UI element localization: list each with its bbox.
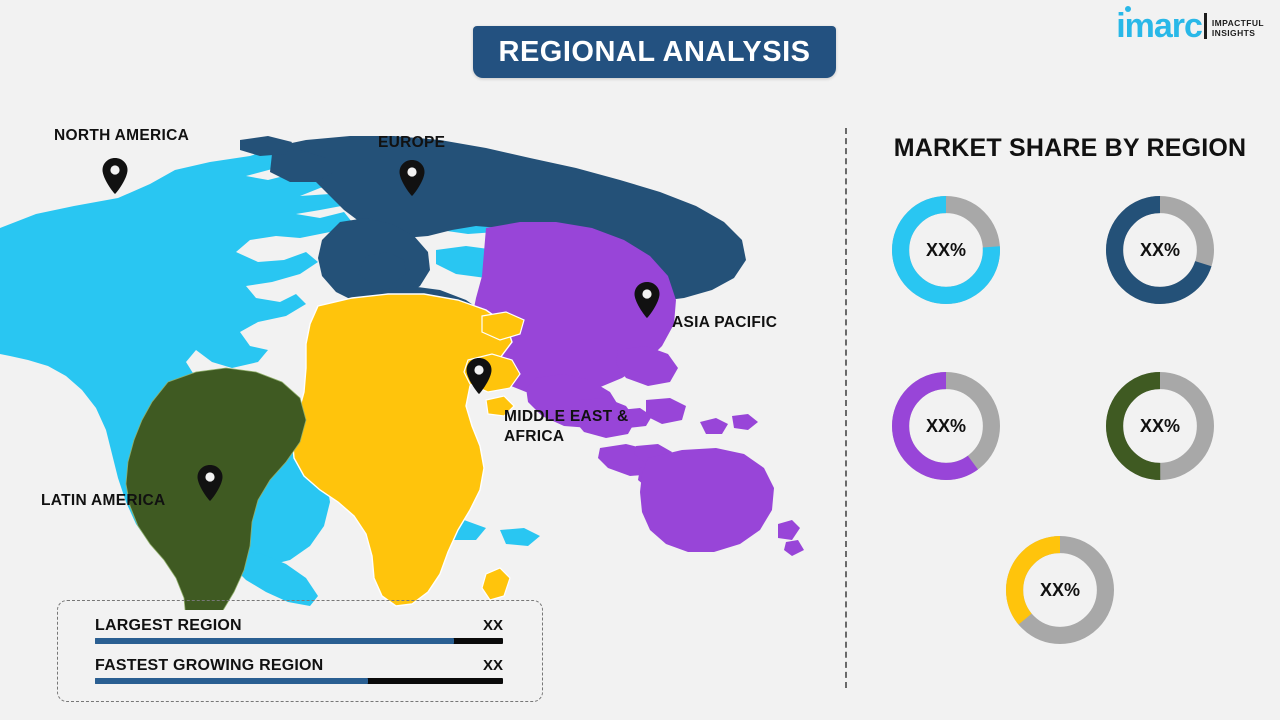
legend-row-fastest-growing-region: FASTEST GROWING REGION XX (95, 657, 503, 684)
market-share-panel-title: MARKET SHARE BY REGION (890, 134, 1250, 163)
region-label-asia-pacific: ASIA PACIFIC (672, 313, 777, 333)
map-pin-asia-pacific-icon[interactable] (634, 282, 660, 318)
region-label-latin-america: LATIN AMERICA (41, 491, 165, 511)
legend-bar-fill-largest-region (95, 638, 454, 644)
logo-tagline-line2: INSIGHTS (1212, 28, 1264, 38)
map-region-asia-pacific (472, 222, 804, 556)
region-label-europe: EUROPE (378, 133, 445, 153)
donut-value-europe: XX% (1100, 190, 1220, 310)
donut-chart-asia-pacific: XX% (886, 366, 1006, 486)
donut-chart-europe: XX% (1100, 190, 1220, 310)
map-region-middle-east-africa (292, 294, 524, 606)
page-title-banner: REGIONAL ANALYSIS (473, 26, 836, 78)
legend-row-largest-region: LARGEST REGION XX (95, 617, 503, 644)
donut-value-asia-pacific: XX% (886, 366, 1006, 486)
legend-value-fastest-growing-region: XX (483, 657, 503, 674)
donut-chart-latin-america: XX% (1100, 366, 1220, 486)
donut-chart-middle-east-africa: XX% (1000, 530, 1120, 650)
donut-value-north-america: XX% (886, 190, 1006, 310)
logo-tagline: IMPACTFUL INSIGHTS (1212, 18, 1264, 38)
logo-word-text: imarc (1116, 7, 1202, 45)
page-title: REGIONAL ANALYSIS (499, 36, 811, 69)
region-label-middle-east-africa: MIDDLE EAST & AFRICA (504, 407, 628, 447)
logo-tagline-line1: IMPACTFUL (1212, 18, 1264, 28)
legend-bar-fill-fastest-growing-region (95, 678, 368, 684)
logo-divider-bar (1204, 13, 1207, 39)
region-summary-box: LARGEST REGION XX FASTEST GROWING REGION… (57, 600, 543, 702)
imarc-logo: imarc IMPACTFUL INSIGHTS (1116, 10, 1264, 42)
map-pin-middle-east-africa-icon[interactable] (466, 358, 492, 394)
legend-label-fastest-growing-region: FASTEST GROWING REGION (95, 657, 323, 675)
donut-value-middle-east-africa: XX% (1000, 530, 1120, 650)
donut-value-latin-america: XX% (1100, 366, 1220, 486)
donut-chart-north-america: XX% (886, 190, 1006, 310)
infographic-canvas: REGIONAL ANALYSIS imarc IMPACTFUL INSIGH… (0, 0, 1280, 720)
map-pin-latin-america-icon[interactable] (197, 465, 223, 501)
legend-label-largest-region: LARGEST REGION (95, 617, 242, 635)
logo-wordmark: imarc (1116, 10, 1202, 42)
legend-bar-track-fastest-growing-region (95, 678, 503, 684)
legend-value-largest-region: XX (483, 617, 503, 634)
panel-divider (845, 128, 847, 688)
legend-bar-track-largest-region (95, 638, 503, 644)
map-pin-north-america-icon[interactable] (102, 158, 128, 194)
map-pin-europe-icon[interactable] (399, 160, 425, 196)
region-label-north-america: NORTH AMERICA (54, 126, 189, 146)
